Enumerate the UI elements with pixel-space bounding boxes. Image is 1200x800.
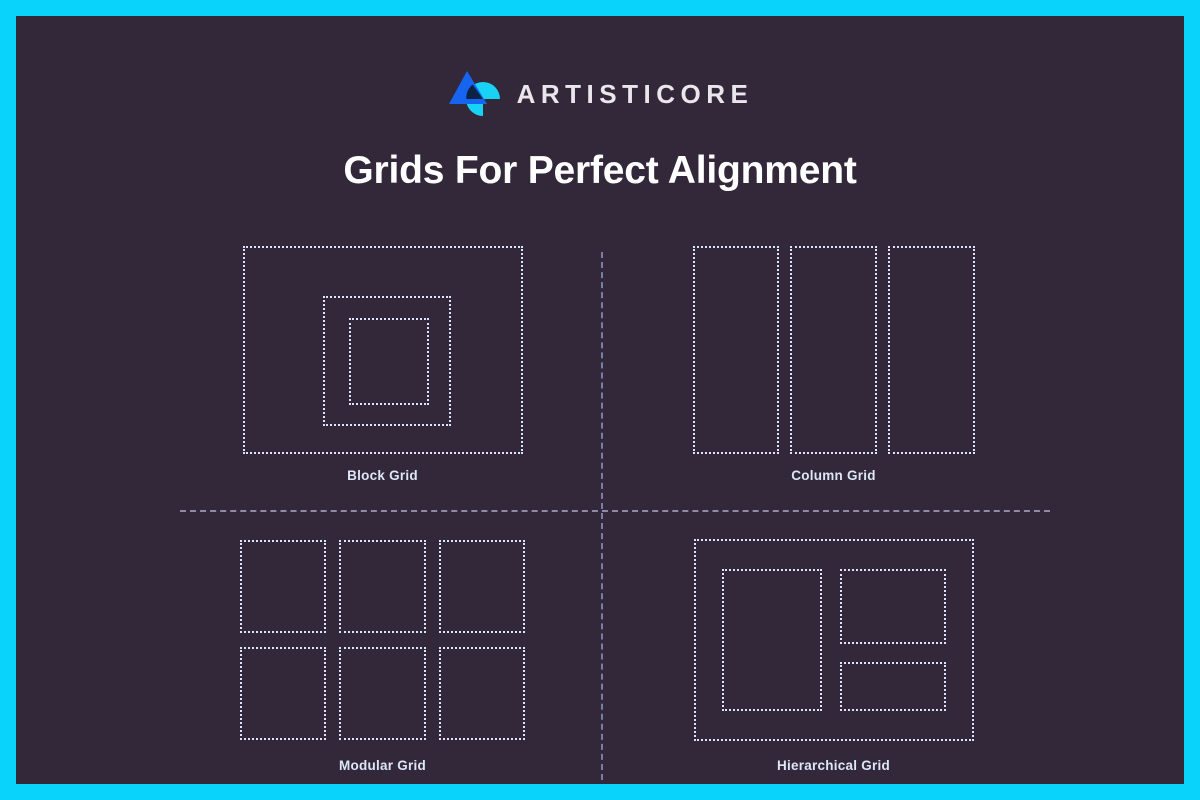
modular-grid-module [240,540,327,633]
block-grid-label: Block Grid [347,468,418,483]
hierarchical-grid-tertiary-block [840,662,946,711]
hierarchical-grid-secondary-block [840,569,946,644]
quadrant-column-grid: Column Grid [615,244,1052,510]
brand-wordmark: ARTISTICORE [517,79,754,110]
vertical-divider [601,252,603,780]
quadrant-modular-grid: Modular Grid [164,534,601,784]
column-grid-column [693,246,780,454]
horizontal-divider [180,510,1050,512]
modular-grid-container [240,540,526,740]
hierarchical-grid-figure [694,534,974,746]
poster-frame: ARTISTICORE Grids For Perfect Alignment … [0,0,1200,800]
artisticore-logo-icon [447,66,503,122]
modular-grid-label: Modular Grid [339,758,426,773]
hierarchical-grid-label: Hierarchical Grid [777,758,890,773]
modular-grid-module [439,647,526,740]
block-grid-inner-box [349,318,429,405]
brand-lockup: ARTISTICORE [16,66,1184,122]
hierarchical-grid-primary-block [722,569,822,711]
modular-grid-module [240,647,327,740]
column-grid-figure [693,244,975,456]
modular-grid-module [439,540,526,633]
column-grid-label: Column Grid [791,468,876,483]
modular-grid-figure [240,534,526,746]
modular-grid-module [339,540,426,633]
column-grid-column [790,246,877,454]
poster-canvas: ARTISTICORE Grids For Perfect Alignment … [16,16,1184,784]
hierarchical-grid-outer-frame [694,539,974,741]
block-grid-outer-box [243,246,523,454]
quadrant-hierarchical-grid: Hierarchical Grid [615,534,1052,784]
block-grid-figure [243,244,523,456]
column-grid-column [888,246,975,454]
grid-examples-area: Block Grid Column Grid [164,244,1052,784]
quadrant-block-grid: Block Grid [164,244,601,510]
page-title: Grids For Perfect Alignment [16,149,1184,193]
hierarchical-grid-secondary-stack [840,569,946,711]
column-grid-container [693,246,975,454]
modular-grid-module [339,647,426,740]
